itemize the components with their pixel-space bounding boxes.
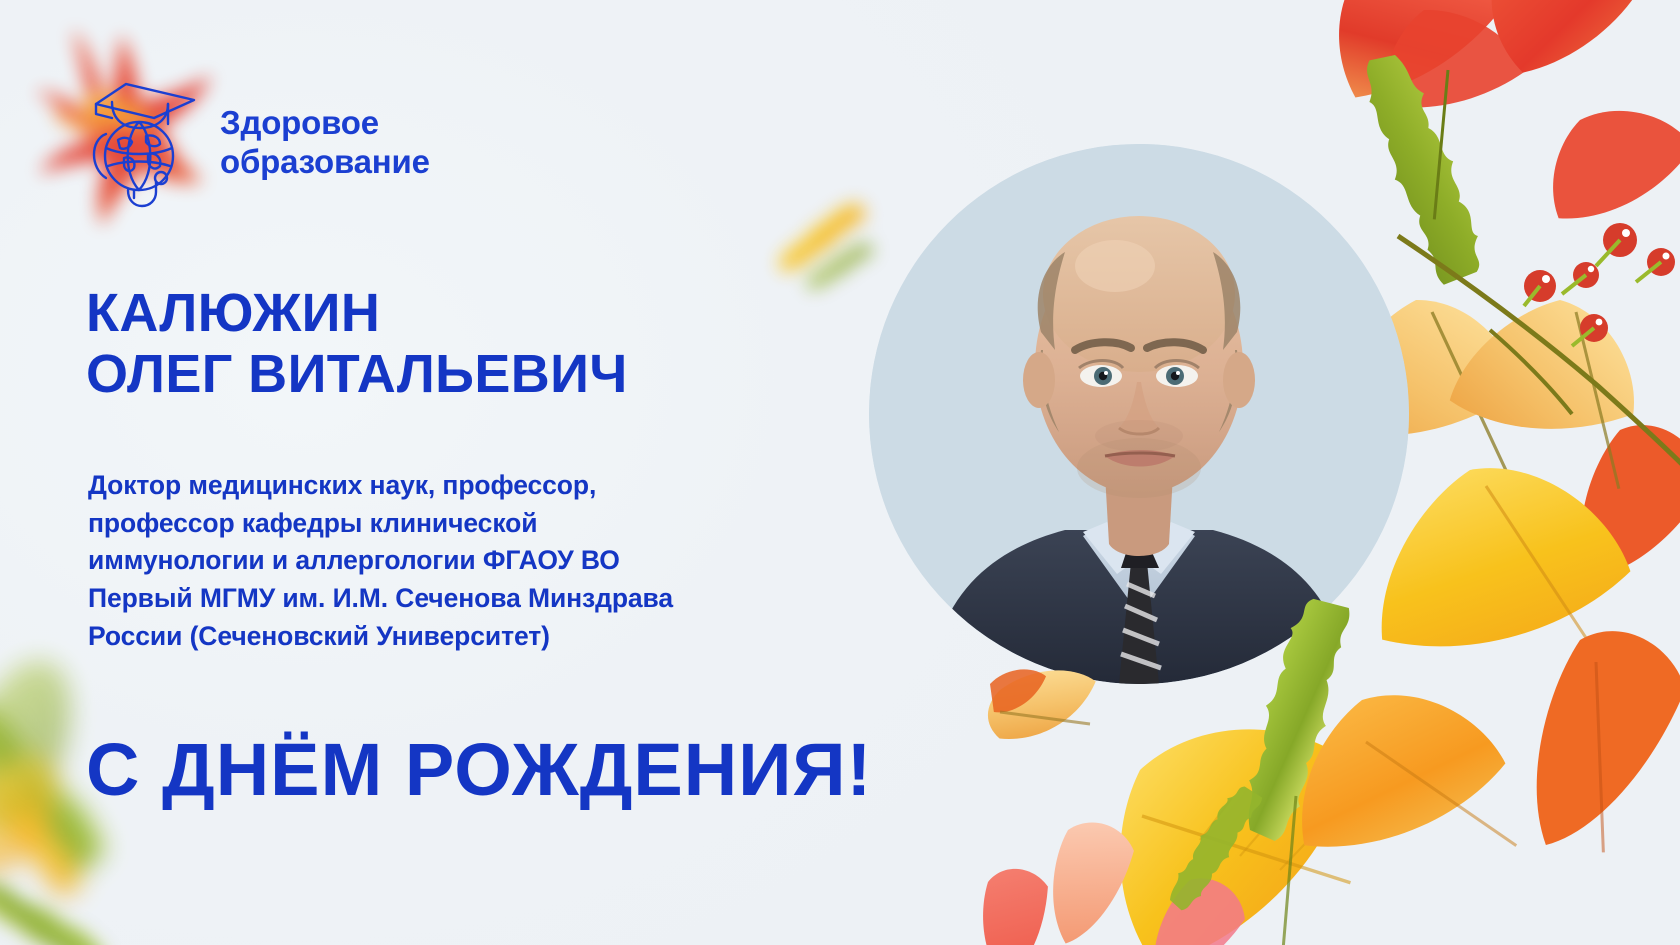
portrait-photo <box>869 144 1409 684</box>
person-given-name: ОЛЕГ ВИТАЛЬЕВИЧ <box>86 344 628 405</box>
birthday-poster: Здоровое образование КАЛЮЖИН ОЛЕГ ВИТАЛЬ… <box>0 0 1680 945</box>
brand-logo-text: Здоровое образование <box>220 104 430 182</box>
person-description: Доктор медицинских наук, профессор, проф… <box>88 467 828 655</box>
description-line: Доктор медицинских наук, профессор, <box>88 467 828 505</box>
description-line: иммунологии и аллергологии ФГАОУ ВО <box>88 542 828 580</box>
description-line: профессор кафедры клинической <box>88 505 828 543</box>
birthday-greeting: С ДНЁМ РОЖДЕНИЯ! <box>86 733 872 807</box>
description-line: России (Сеченовский Университет) <box>88 618 828 656</box>
person-surname: КАЛЮЖИН <box>86 283 628 344</box>
brand-logo: Здоровое образование <box>82 72 430 214</box>
description-line: Первый МГМУ им. И.М. Сеченова Минздрава <box>88 580 828 618</box>
graduation-cap-globe-stethoscope-icon <box>82 72 206 214</box>
avatar <box>869 144 1409 684</box>
person-name: КАЛЮЖИН ОЛЕГ ВИТАЛЬЕВИЧ <box>86 283 628 405</box>
